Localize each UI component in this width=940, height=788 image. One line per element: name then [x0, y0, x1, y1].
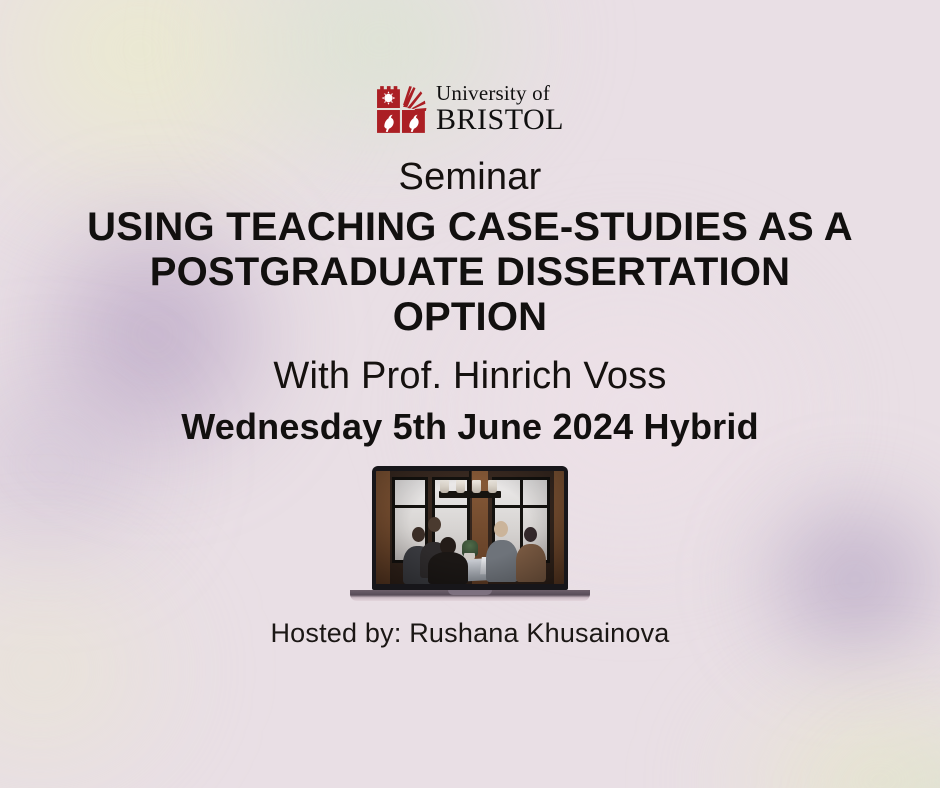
event-presenter: With Prof. Hinrich Voss — [0, 355, 940, 398]
event-title-line-2: POSTGRADUATE DISSERTATION — [60, 250, 880, 295]
event-kind: Seminar — [0, 156, 940, 199]
laptop-trackpad-notch — [448, 590, 492, 595]
event-title-line-1: USING TEACHING CASE-STUDIES AS A — [60, 205, 880, 250]
bristol-crest-icon — [376, 84, 428, 135]
photo-vignette — [376, 471, 564, 584]
university-logo: University of BRISTOL — [0, 83, 940, 135]
logo-wordmark: University of BRISTOL — [436, 83, 564, 135]
event-title: USING TEACHING CASE-STUDIES AS A POSTGRA… — [60, 205, 880, 339]
laptop-base — [350, 590, 590, 601]
laptop-screen-photo — [376, 471, 564, 584]
logo-line-bristol: BRISTOL — [436, 105, 564, 135]
logo-line-university-of: University of — [436, 83, 550, 104]
event-host: Hosted by: Rushana Khusainova — [0, 618, 940, 649]
laptop-lid — [372, 466, 568, 590]
event-title-line-3: OPTION — [60, 295, 880, 340]
event-poster: University of BRISTOL Seminar USING TEAC… — [0, 0, 940, 788]
poster-content: University of BRISTOL Seminar USING TEAC… — [0, 0, 940, 788]
laptop-illustration — [345, 466, 595, 601]
event-datetime: Wednesday 5th June 2024 Hybrid — [0, 406, 940, 448]
